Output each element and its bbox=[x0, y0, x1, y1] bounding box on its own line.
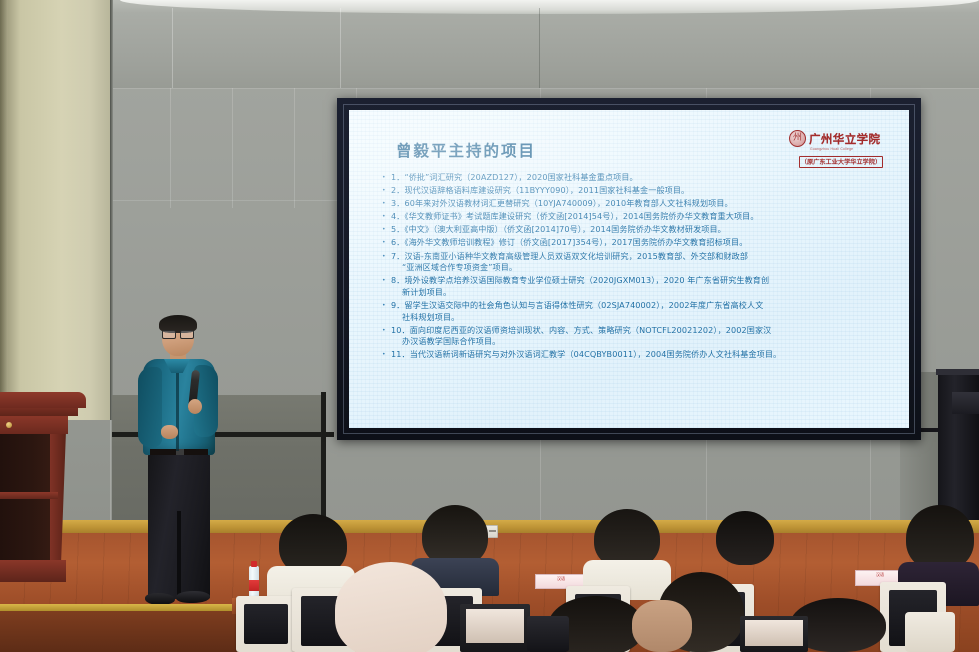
column-edge bbox=[110, 0, 113, 420]
bullet-dot-icon: • bbox=[382, 275, 387, 284]
list-item: • 2．现代汉语辞格语料库建设研究（11BYYY090），2011国家社科基金一… bbox=[382, 185, 901, 197]
list-item: • 11．当代汉语新词新语研究与对外汉语词汇教学（04CQBYB0011），20… bbox=[382, 349, 901, 361]
wall-column-left bbox=[0, 0, 112, 420]
stage-railing-vertical bbox=[321, 392, 326, 532]
bullet-dot-icon: • bbox=[382, 300, 387, 309]
list-item: • 6．《海外华文教师培训教程》修订（侨文函[2017]354号），2017国务… bbox=[382, 237, 901, 249]
water-bottle bbox=[249, 566, 259, 600]
list-item-text: 7．汉语-东南亚小语种华文教育高级管理人员双语双文化培训研究，2015教育部、外… bbox=[391, 251, 901, 274]
list-item: • 1．“侨批”词汇研究（20AZD127），2020国家社科基金重点项目。 bbox=[382, 172, 901, 184]
placard-text: 汉语 bbox=[856, 571, 904, 579]
audience-chair[interactable] bbox=[905, 612, 955, 652]
presenter-arm-left bbox=[138, 367, 162, 447]
bullet-dot-icon: • bbox=[382, 237, 387, 246]
lectern-drawer-knob[interactable] bbox=[6, 422, 12, 428]
eyeglasses-icon bbox=[162, 330, 194, 337]
placard-text: 汉语 bbox=[536, 575, 586, 583]
bullet-dot-icon: • bbox=[382, 185, 387, 194]
list-item-text: 3．60年来对外汉语教材词汇更替研究（10YJA740009），2010年教育部… bbox=[391, 198, 901, 210]
laptop-screen bbox=[466, 609, 524, 643]
presenter-hand-right bbox=[188, 399, 202, 414]
list-item: • 3．60年来对外汉语教材词汇更替研究（10YJA740009），2010年教… bbox=[382, 198, 901, 210]
list-item-text: 9．留学生汉语交际中的社会角色认知与言语得体性研究（02SJA740002），2… bbox=[391, 300, 901, 323]
presenter bbox=[124, 315, 230, 625]
list-item-text: 10．面向印度尼西亚的汉语师资培训现状、内容、方式、策略研究（NOTCFL200… bbox=[391, 325, 901, 348]
university-logo: 广州华立学院 Guangzhou Huali College （原广东工业大学华… bbox=[789, 130, 893, 169]
laptop-screen bbox=[745, 620, 803, 646]
bullet-dot-icon: • bbox=[382, 325, 387, 334]
presenter-belt bbox=[150, 449, 208, 455]
audience-bag bbox=[527, 616, 569, 652]
av-rack-top bbox=[936, 369, 979, 375]
logo-subtitle: （原广东工业大学华立学院） bbox=[799, 156, 883, 168]
slide-title: 曾毅平主持的项目 bbox=[396, 139, 536, 161]
bullet-dot-icon: • bbox=[382, 198, 387, 207]
list-item-text: 6．《海外华文教师培训教程》修订（侨文函[2017]354号），2017国务院侨… bbox=[391, 237, 901, 249]
list-item: • 4．《华文教师证书》考试题库建设研究（侨文函[2014]54号），2014国… bbox=[382, 211, 901, 223]
logo-name: 广州华立学院 bbox=[809, 131, 880, 147]
bullet-dot-icon: • bbox=[382, 224, 387, 233]
bullet-dot-icon: • bbox=[382, 251, 387, 260]
list-item bbox=[335, 562, 447, 652]
list-item: • 9．留学生汉语交际中的社会角色认知与言语得体性研究（02SJA740002）… bbox=[382, 300, 901, 323]
list-item: • 10．面向印度尼西亚的汉语师资培训现状、内容、方式、策略研究（NOTCFL2… bbox=[382, 325, 901, 348]
list-item-text: 8．境外设教学点培养汉语国际教育专业学位硕士研究（2020JGXM013），20… bbox=[391, 275, 901, 298]
wooden-lectern bbox=[0, 392, 90, 585]
presentation-slide[interactable]: 曾毅平主持的项目 广州华立学院 Guangzhou Huali College … bbox=[349, 110, 909, 428]
list-item bbox=[632, 600, 692, 652]
logo-english-name: Guangzhou Huali College bbox=[810, 147, 893, 151]
presenter-hand-left bbox=[161, 425, 178, 439]
lecture-hall-scene: 曾毅平主持的项目 广州华立学院 Guangzhou Huali College … bbox=[0, 0, 979, 652]
bullet-dot-icon: • bbox=[382, 211, 387, 220]
list-item-text: 4．《华文教师证书》考试题库建设研究（侨文函[2014]54号），2014国务院… bbox=[391, 211, 901, 223]
logo-seal-icon bbox=[789, 130, 806, 147]
list-item: • 5．《中文》（澳大利亚高中版）（侨文函[2014]70号），2014国务院侨… bbox=[382, 224, 901, 236]
list-item-text: 11．当代汉语新词新语研究与对外汉语词汇教学（04CQBYB0011），2004… bbox=[391, 349, 901, 361]
list-item bbox=[716, 511, 774, 565]
list-item-text: 5．《中文》（澳大利亚高中版）（侨文函[2014]70号），2014国务院侨办华… bbox=[391, 224, 901, 236]
audience-chair-cushion bbox=[244, 604, 288, 644]
stage-front-face bbox=[0, 611, 250, 652]
slide-bullet-list: • 1．“侨批”词汇研究（20AZD127），2020国家社科基金重点项目。 •… bbox=[382, 172, 901, 362]
list-item: • 8．境外设教学点培养汉语国际教育专业学位硕士研究（2020JGXM013），… bbox=[382, 275, 901, 298]
list-item: • 7．汉语-东南亚小语种华文教育高级管理人员双语双文化培训研究，2015教育部… bbox=[382, 251, 901, 274]
bullet-dot-icon: • bbox=[382, 172, 387, 181]
bullet-dot-icon: • bbox=[382, 349, 387, 358]
presenter-shoe-right bbox=[176, 591, 210, 603]
av-rack-slot bbox=[952, 392, 979, 414]
list-item-text: 2．现代汉语辞格语料库建设研究（11BYYY090），2011国家社科基金一般项… bbox=[391, 185, 901, 197]
list-item-text: 1．“侨批”词汇研究（20AZD127），2020国家社科基金重点项目。 bbox=[391, 172, 901, 184]
